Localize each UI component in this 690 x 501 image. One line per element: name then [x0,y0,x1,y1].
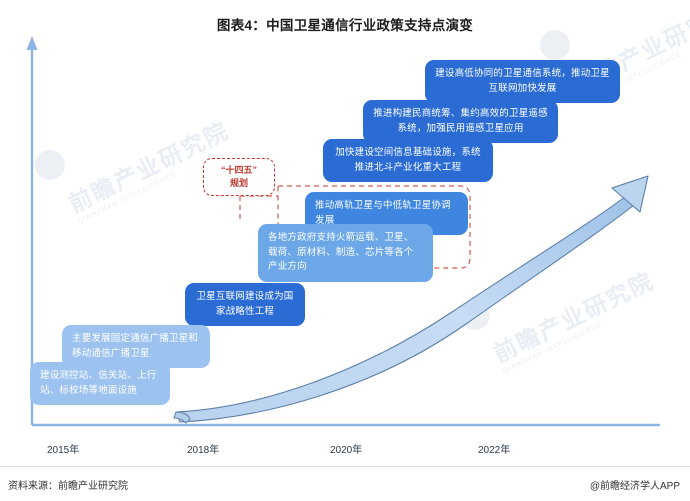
brand-note: @前瞻经济学人APP [590,477,680,492]
chart-figure: 图表4：中国卫星通信行业政策支持点演变 前瞻产业研究院 QIANZHAN INT… [0,0,690,500]
policy-callout-2020-satellite-internet[interactable]: 卫星互联网建设成为国家战略性工程 [185,283,305,326]
policy-callout-2022-satcom[interactable]: 建设高低协同的卫星通信系统，推动卫星互联网加快发展 [425,60,620,103]
x-tick-label-2015: 2015年 [47,441,79,456]
policy-callout-2022-remote-sensing[interactable]: 推进构建民商统筹、集约高效的卫星遥感系统，加强民用遥感卫星应用 [363,100,558,143]
x-tick-label-2022: 2022年 [478,441,510,456]
plan-badge-line2: 规划 [204,177,274,190]
policy-callout-local-government[interactable]: 各地方政府支持火箭运载、卫星、载荷、原材料、制造、芯片等各个产业方向 [258,224,433,282]
plan-badge-line1: “十四五” [204,164,274,177]
five-year-plan-badge[interactable]: “十四五” 规划 [203,158,275,196]
source-note: 资料来源：前瞻产业研究院 [8,477,128,492]
chart-footer: 资料来源：前瞻产业研究院 @前瞻经济学人APP [0,466,690,501]
x-tick-label-2020: 2020年 [330,441,362,456]
policy-callout-2021-beidou[interactable]: 加快建设空间信息基础设施，系统推进北斗产业化重大工程 [323,139,493,182]
policy-callout-2015-ground-facilities[interactable]: 建设测控站、信关站、上行站、标校场等地面设施 [30,362,170,405]
x-tick-label-2018: 2018年 [187,441,219,456]
plot-area: 前瞻产业研究院 QIANZHAN INTELLIGENCE 前瞻产业研究院 QI… [0,0,690,470]
